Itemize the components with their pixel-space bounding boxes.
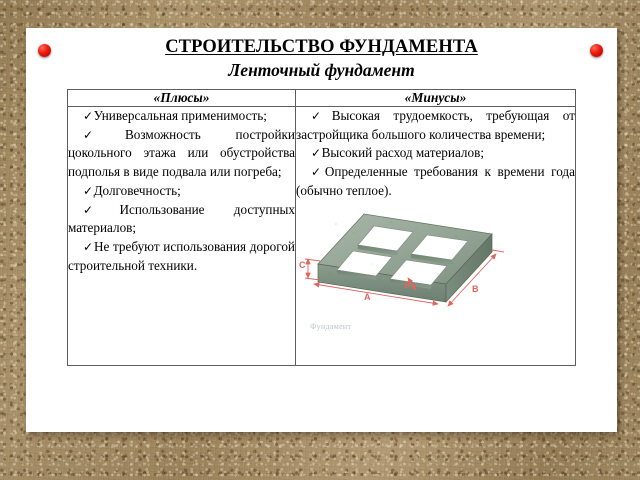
check-icon: ✓ — [311, 109, 332, 123]
table-header-cons: «Минусы» — [296, 90, 576, 107]
table-body-row: ✓Универсальная применимость; ✓Возможност… — [68, 107, 576, 366]
cons-cell: ✓Высокая трудоемкость, требующая от заст… — [296, 107, 576, 366]
list-item-text: Определенные требования к времени года (… — [296, 164, 575, 198]
pros-cons-table: «Плюсы» «Минусы» ✓Универсальная применим… — [67, 89, 576, 366]
page-subtitle: Ленточный фундамент — [26, 60, 617, 81]
check-icon: ✓ — [83, 240, 94, 254]
check-icon: ✓ — [83, 184, 94, 198]
check-icon: ✓ — [83, 128, 125, 142]
page-title: СТРОИТЕЛЬСТВО ФУНДАМЕНТА — [26, 37, 617, 58]
table-header-pros: «Плюсы» — [68, 90, 296, 107]
table-header-row: «Плюсы» «Минусы» — [68, 90, 576, 107]
image-watermark: Фундамент — [310, 322, 351, 331]
dimension-label-d: D — [404, 280, 411, 290]
pros-list: ✓Универсальная применимость; ✓Возможност… — [68, 107, 295, 276]
slide-sheet: СТРОИТЕЛЬСТВО ФУНДАМЕНТА Ленточный фунда… — [26, 28, 617, 432]
list-item: ✓Не требуют использования дорогой строит… — [68, 238, 295, 275]
cons-list: ✓Высокая трудоемкость, требующая от заст… — [296, 107, 575, 201]
check-icon: ✓ — [311, 165, 325, 179]
list-item: ✓Возможность постройки цокольного этажа … — [68, 126, 295, 182]
check-icon: ✓ — [83, 109, 94, 123]
strip-foundation-svg: C A D B — [296, 206, 562, 334]
list-item: ✓Использование доступных материалов; — [68, 201, 295, 238]
list-item: ✓Долговечность; — [68, 182, 295, 201]
list-item: ✓Определенные требования к времени года … — [296, 163, 575, 200]
list-item: ✓Универсальная применимость; — [68, 107, 295, 126]
dimension-label-c: C — [299, 260, 306, 270]
strip-foundation-3d-illustration: C A D B Фундамент — [296, 206, 562, 334]
list-item-text: Долговечность; — [94, 183, 181, 198]
list-item: ✓Высокий расход материалов; — [296, 144, 575, 163]
list-item-text: Универсальная применимость; — [94, 108, 267, 123]
list-item-text: Не требуют использования дорогой строите… — [68, 239, 295, 273]
dimension-label-b: B — [472, 284, 479, 294]
dimension-label-a: A — [364, 292, 371, 302]
check-icon: ✓ — [311, 146, 322, 160]
list-item-text: Высокая трудоемкость, требующая от застр… — [296, 108, 575, 142]
list-item-text: Высокий расход материалов; — [322, 145, 484, 160]
pros-cell: ✓Универсальная применимость; ✓Возможност… — [68, 107, 296, 366]
check-icon: ✓ — [83, 203, 119, 217]
list-item: ✓Высокая трудоемкость, требующая от заст… — [296, 107, 575, 144]
